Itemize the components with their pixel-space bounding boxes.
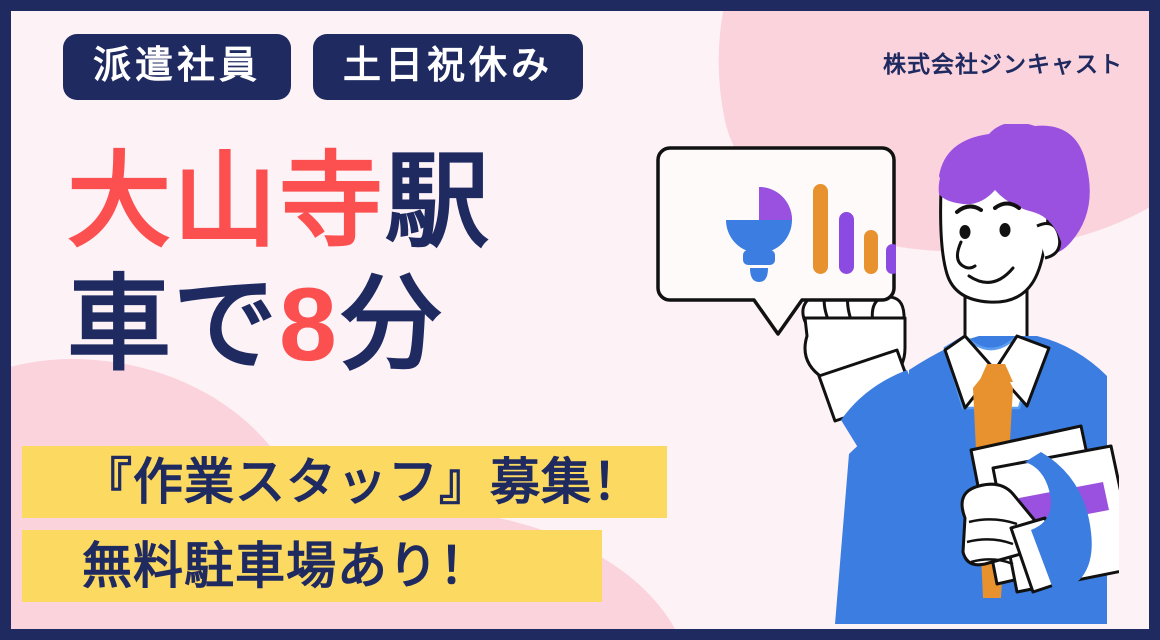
highlight-band-recruiting: 『作業スタッフ』募集！: [22, 446, 667, 518]
job-ad-banner: 派遣社員 土日祝休み 株式会社ジンキャスト 大山寺駅 車で8分 『作業スタッフ』…: [0, 0, 1160, 640]
company-name: 株式会社ジンキャスト: [883, 45, 1123, 79]
highlight-band-parking: 無料駐車場あり！: [22, 530, 602, 602]
headline-line-travel: 車で8分: [67, 264, 491, 387]
badge-holiday[interactable]: 土日祝休み: [313, 34, 583, 100]
station-name: 大山寺: [67, 144, 385, 260]
headline-line-station: 大山寺駅: [67, 141, 491, 264]
badge-employment-type[interactable]: 派遣社員: [63, 34, 291, 100]
badge-row: 派遣社員 土日祝休み: [63, 34, 583, 100]
travel-minutes: 8: [279, 267, 339, 383]
travel-suffix: 分: [339, 267, 445, 383]
highlight-band-recruiting-text: 『作業スタッフ』募集！: [22, 457, 643, 507]
speech-bubble-icon: [656, 144, 896, 344]
banner-canvas: 派遣社員 土日祝休み 株式会社ジンキャスト 大山寺駅 車で8分 『作業スタッフ』…: [11, 11, 1149, 629]
travel-prefix: 車で: [67, 267, 279, 383]
headline: 大山寺駅 車で8分: [67, 141, 491, 386]
station-suffix: 駅: [385, 144, 491, 260]
highlight-band-parking-text: 無料駐車場あり！: [22, 541, 490, 591]
